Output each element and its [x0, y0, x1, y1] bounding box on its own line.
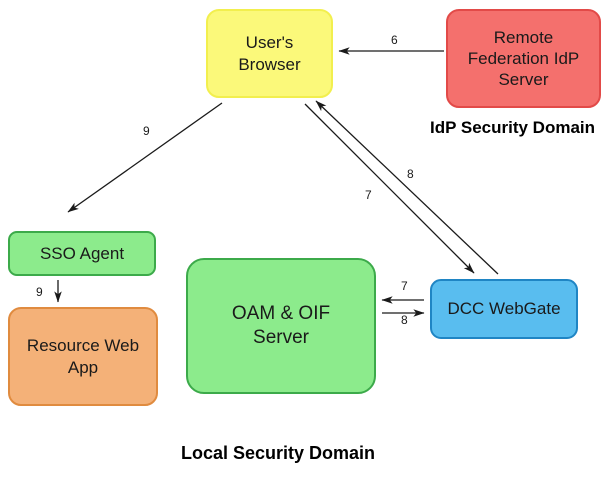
node-oam-oif-server-label: OAM & OIF Server — [220, 302, 342, 350]
edge-label-9-browser-to-sso: 9 — [143, 124, 150, 138]
node-users-browser-line2: Browser — [232, 54, 306, 75]
node-oam-oif-server[interactable]: OAM & OIF Server — [186, 258, 376, 394]
node-idp-line2: Federation IdP — [462, 48, 586, 69]
diagram-canvas: User's Browser Remote Federation IdP Ser… — [0, 0, 614, 488]
node-remote-federation-idp-server-label: Remote Federation IdP Server — [456, 27, 592, 91]
node-resource-web-app-label: Resource Web App — [15, 335, 151, 378]
edge-label-6: 6 — [391, 33, 398, 47]
node-users-browser-label: User's Browser — [226, 32, 312, 75]
node-idp-line1: Remote — [462, 27, 586, 48]
node-oam-line2: Server — [226, 326, 336, 350]
node-dcc-webgate[interactable]: DCC WebGate — [430, 279, 578, 339]
node-idp-line3: Server — [462, 69, 586, 90]
edge-label-8-dcc-to-browser: 8 — [407, 167, 414, 181]
edge-label-9-sso-to-resource: 9 — [36, 285, 43, 299]
node-users-browser[interactable]: User's Browser — [206, 9, 333, 98]
node-dcc-webgate-label: DCC WebGate — [441, 298, 566, 319]
edge-label-7-browser-to-dcc: 7 — [365, 188, 372, 202]
edge-label-7-dcc-to-oam: 7 — [401, 279, 408, 293]
node-oam-line1: OAM & OIF — [226, 302, 336, 326]
node-resource-line2: App — [21, 357, 145, 378]
local-security-domain-label: Local Security Domain — [181, 443, 375, 464]
edge-label-8-oam-to-dcc: 8 — [401, 313, 408, 327]
node-sso-agent[interactable]: SSO Agent — [8, 231, 156, 276]
node-resource-web-app[interactable]: Resource Web App — [8, 307, 158, 406]
node-remote-federation-idp-server[interactable]: Remote Federation IdP Server — [446, 9, 601, 108]
node-sso-agent-label: SSO Agent — [34, 243, 130, 264]
node-users-browser-line1: User's — [232, 32, 306, 53]
idp-security-domain-label: IdP Security Domain — [430, 118, 595, 138]
node-resource-line1: Resource Web — [21, 335, 145, 356]
edge-9-browser-to-sso-line — [68, 103, 222, 212]
